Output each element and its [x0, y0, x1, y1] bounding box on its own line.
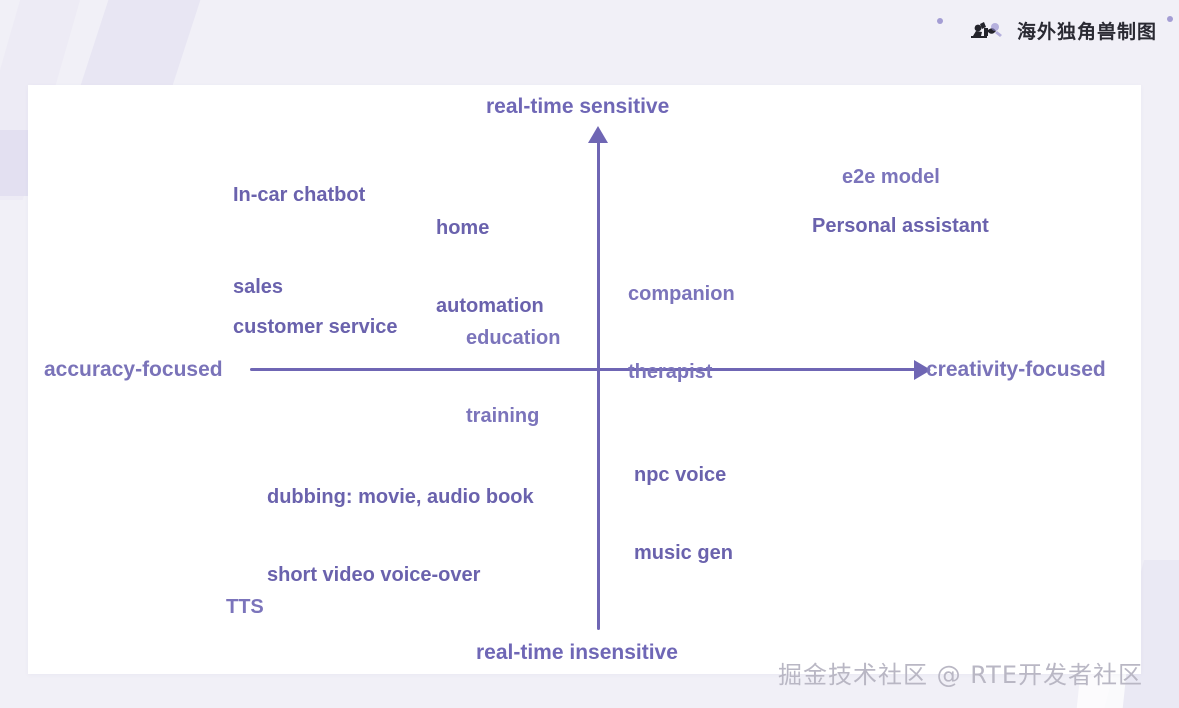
axis-label-right: creativity-focused: [926, 358, 1106, 382]
chart-item-line: training: [466, 403, 560, 429]
chart-item-sales: sales: [233, 274, 283, 300]
decorative-dot-icon: [937, 18, 943, 24]
slide-canvas: 海外独角兽制图 real-time sensitive real-time in…: [0, 0, 1179, 708]
chart-item-line: education: [466, 325, 560, 351]
chart-item-line: music gen: [634, 540, 733, 566]
axis-arrow-up-icon: [588, 126, 608, 143]
chart-item-companion-therapist: companion therapist: [628, 229, 735, 437]
brand-name: 海外独角兽制图: [1017, 17, 1157, 44]
chart-item-npc-voice-music-gen: npc voice music gen: [634, 410, 733, 618]
unicorn-logo-icon: [967, 18, 1007, 42]
chart-item-line: companion: [628, 281, 735, 307]
chart-item-line: home: [436, 215, 544, 241]
vertical-axis-line: [597, 130, 600, 630]
horizontal-axis-line: [250, 368, 920, 371]
chart-item-line: short video voice-over: [267, 562, 534, 588]
axis-label-bottom: real-time insensitive: [476, 641, 678, 665]
chart-item-line: npc voice: [634, 462, 733, 488]
chart-item-line: therapist: [628, 359, 735, 385]
decorative-dot-icon: [1167, 16, 1173, 22]
axis-label-top: real-time sensitive: [486, 95, 669, 119]
brand-watermark: 海外独角兽制图: [967, 10, 1157, 50]
chart-item-tts: TTS: [226, 594, 264, 620]
chart-item-e2e-model: e2e model: [842, 164, 940, 190]
chart-item-line: dubbing: movie, audio book: [267, 484, 534, 510]
chart-item-customer-service: customer service: [233, 314, 398, 340]
chart-item-dubbing: dubbing: movie, audio book short video v…: [267, 432, 534, 640]
chart-item-personal-assistant: Personal assistant: [812, 213, 989, 239]
chart-item-in-car-chatbot: In-car chatbot: [233, 182, 365, 208]
axis-label-left: accuracy-focused: [44, 358, 223, 382]
footer-watermark: 掘金技术社区 @ RTE开发者社区: [778, 655, 1143, 690]
